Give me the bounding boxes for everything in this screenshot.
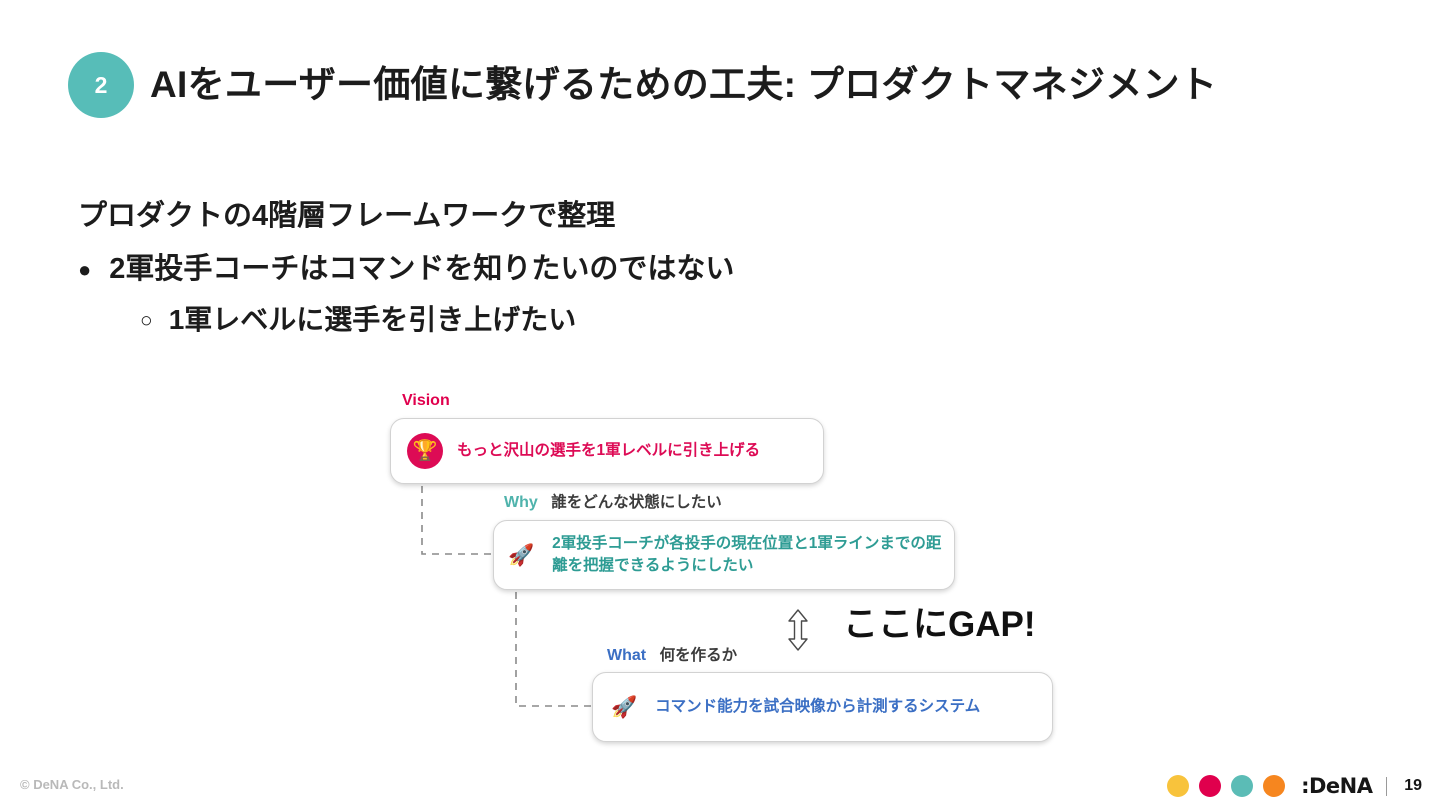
vision-card[interactable]: 🏆 もっと沢山の選手を1軍レベルに引き上げる (390, 418, 824, 484)
filled-circle-bullet-icon: ● (78, 259, 91, 281)
why-card[interactable]: 🚀 2軍投手コーチが各投手の現在位置と1軍ラインまでの距離を把握できるようにした… (493, 520, 955, 590)
vision-card-text: もっと沢山の選手を1軍レベルに引き上げる (457, 440, 760, 462)
brand-dot-orange (1263, 775, 1285, 797)
rocket-icon: 🚀 (611, 697, 637, 718)
tier-desc-why: 誰をどんな状態にしたい (551, 494, 722, 511)
tier-label-vision: Vision (402, 393, 450, 409)
hollow-circle-bullet-icon: ○ (140, 310, 153, 331)
bullet-list: プロダクトの4階層フレームワークで整理 ● 2軍投手コーチはコマンドを知りたいの… (78, 202, 1178, 334)
bullet-lead: プロダクトの4階層フレームワークで整理 (78, 202, 1178, 231)
tier-key-what: What (607, 647, 646, 664)
bullet-level2: ○ 1軍レベルに選手を引き上げたい (140, 306, 1178, 334)
bullet-level1-label: 2軍投手コーチはコマンドを知りたいのではない (109, 255, 734, 284)
page-number: 19 (1400, 778, 1422, 794)
brand-dot-crimson (1199, 775, 1221, 797)
bullet-level2-label: 1軍レベルに選手を引き上げたい (169, 306, 577, 334)
tier-desc-what: 何を作るか (660, 647, 738, 664)
section-number-label: 2 (95, 74, 108, 97)
footer-divider (1386, 777, 1388, 796)
bullet-level1: ● 2軍投手コーチはコマンドを知りたいのではない (78, 255, 1178, 284)
vision-icon-slot: 🏆 (407, 433, 443, 469)
footer-brand: :DeNA 19 (1167, 772, 1422, 800)
what-card[interactable]: 🚀 コマンド能力を試合映像から計測するシステム (592, 672, 1053, 742)
slide-header: 2 AIをユーザー価値に繋げるための工夫: プロダクトマネジメント (68, 52, 1217, 118)
what-icon-slot: 🚀 (611, 697, 637, 718)
up-down-arrow-icon (783, 608, 813, 652)
tier-label-why: Why 誰をどんな状態にしたい (504, 495, 722, 511)
dena-logo: :DeNA (1301, 776, 1372, 797)
brand-dot-teal (1231, 775, 1253, 797)
page-title: AIをユーザー価値に繋げるための工夫: プロダクトマネジメント (150, 65, 1217, 106)
why-icon-slot: 🚀 (508, 545, 534, 566)
tier-key-vision: Vision (402, 392, 450, 409)
slide-canvas: 2 AIをユーザー価値に繋げるための工夫: プロダクトマネジメント プロダクトの… (0, 0, 1440, 810)
brand-dot-yellow (1167, 775, 1189, 797)
tier-key-why: Why (504, 494, 538, 511)
why-card-text: 2軍投手コーチが各投手の現在位置と1軍ラインまでの距離を把握できるようにしたい (552, 533, 954, 578)
tier-label-what: What 何を作るか (607, 648, 737, 664)
trophy-icon: 🏆 (407, 433, 443, 469)
what-card-text: コマンド能力を試合映像から計測するシステム (655, 696, 980, 718)
gap-annotation-label: ここにGAP! (843, 607, 1036, 642)
rocket-icon: 🚀 (508, 545, 534, 566)
footer-copyright: © DeNA Co., Ltd. (20, 778, 124, 791)
connector-why-to-what (516, 592, 602, 706)
section-number-badge: 2 (68, 52, 134, 118)
